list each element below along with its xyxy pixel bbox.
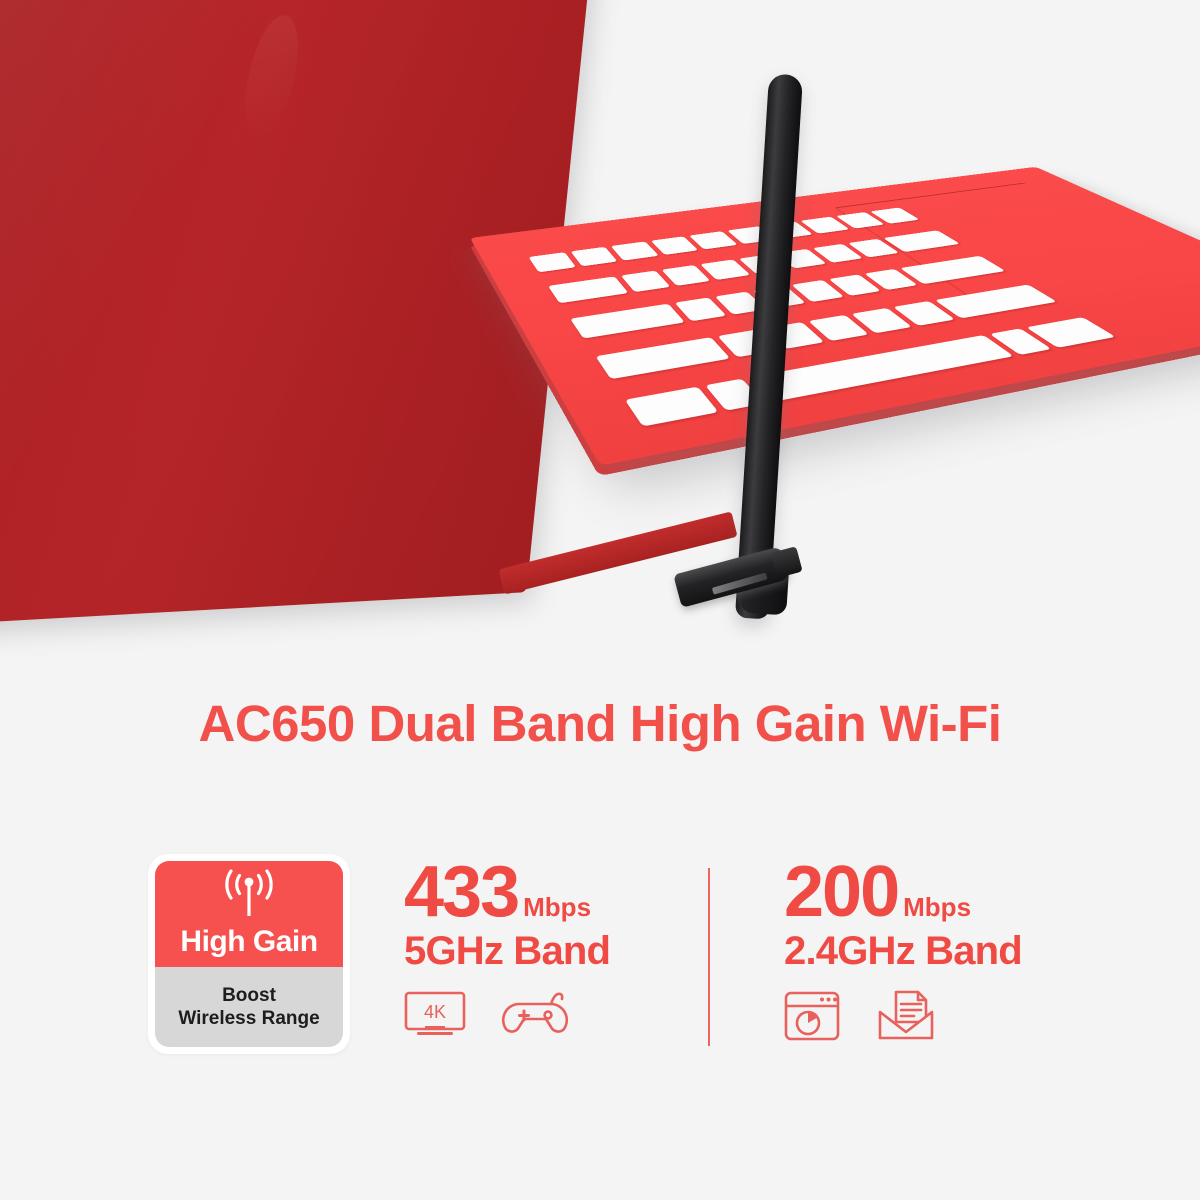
keyboard-key — [661, 265, 711, 286]
stat-5ghz: 433 Mbps 5GHz Band 4K — [404, 856, 610, 1045]
high-gain-badge: High Gain Boost Wireless Range — [148, 854, 350, 1054]
broadcast-signal-icon — [216, 868, 282, 925]
game-controller-icon — [500, 988, 570, 1045]
4k-monitor-icon: 4K — [404, 990, 466, 1045]
high-gain-badge-subtitle-line2: Wireless Range — [178, 1007, 319, 1030]
stat-5ghz-unit: Mbps — [523, 894, 591, 920]
stat-24ghz-band: 2.4GHz Band — [784, 930, 1022, 972]
hero-product-image — [0, 0, 1200, 660]
stat-divider — [708, 868, 710, 1046]
keyboard-key — [625, 387, 719, 427]
stat-5ghz-value: 433 — [404, 856, 518, 928]
high-gain-badge-inner: High Gain Boost Wireless Range — [155, 861, 343, 1047]
high-gain-badge-title: High Gain — [180, 927, 317, 957]
stat-5ghz-speed: 433 Mbps — [404, 856, 610, 928]
keyboard-key — [548, 276, 629, 303]
stat-24ghz: 200 Mbps 2.4GHz Band — [784, 856, 1022, 1047]
adapter-brand-mark — [712, 572, 768, 594]
high-gain-badge-top: High Gain — [155, 861, 343, 967]
keyboard-key — [934, 285, 1057, 319]
keyboard-key — [651, 236, 699, 255]
feature-row: High Gain Boost Wireless Range 433 Mbps … — [0, 848, 1200, 1068]
keyboard-key — [570, 304, 685, 339]
keyboard-key — [528, 252, 575, 272]
stat-5ghz-icons: 4K — [404, 988, 610, 1045]
high-gain-badge-subtitle-line1: Boost — [222, 984, 276, 1007]
keyboard-key — [621, 271, 670, 292]
stat-24ghz-unit: Mbps — [903, 894, 971, 920]
product-feature-banner: AC650 Dual Band High Gain Wi-Fi — [0, 0, 1200, 1200]
stat-5ghz-band: 5GHz Band — [404, 930, 610, 972]
keyboard-key — [595, 337, 730, 379]
keyboard-key — [570, 247, 618, 267]
stat-24ghz-speed: 200 Mbps — [784, 856, 1022, 928]
stat-24ghz-value: 200 — [784, 856, 898, 928]
high-gain-badge-subtitle: Boost Wireless Range — [155, 967, 343, 1047]
page-title: AC650 Dual Band High Gain Wi-Fi — [0, 694, 1200, 753]
svg-text:4K: 4K — [424, 1002, 446, 1022]
email-envelope-icon — [874, 988, 938, 1047]
keyboard-key — [611, 241, 659, 260]
stat-24ghz-icons — [784, 988, 1022, 1047]
browser-chart-icon — [784, 990, 840, 1047]
adapter-connector — [771, 546, 803, 578]
